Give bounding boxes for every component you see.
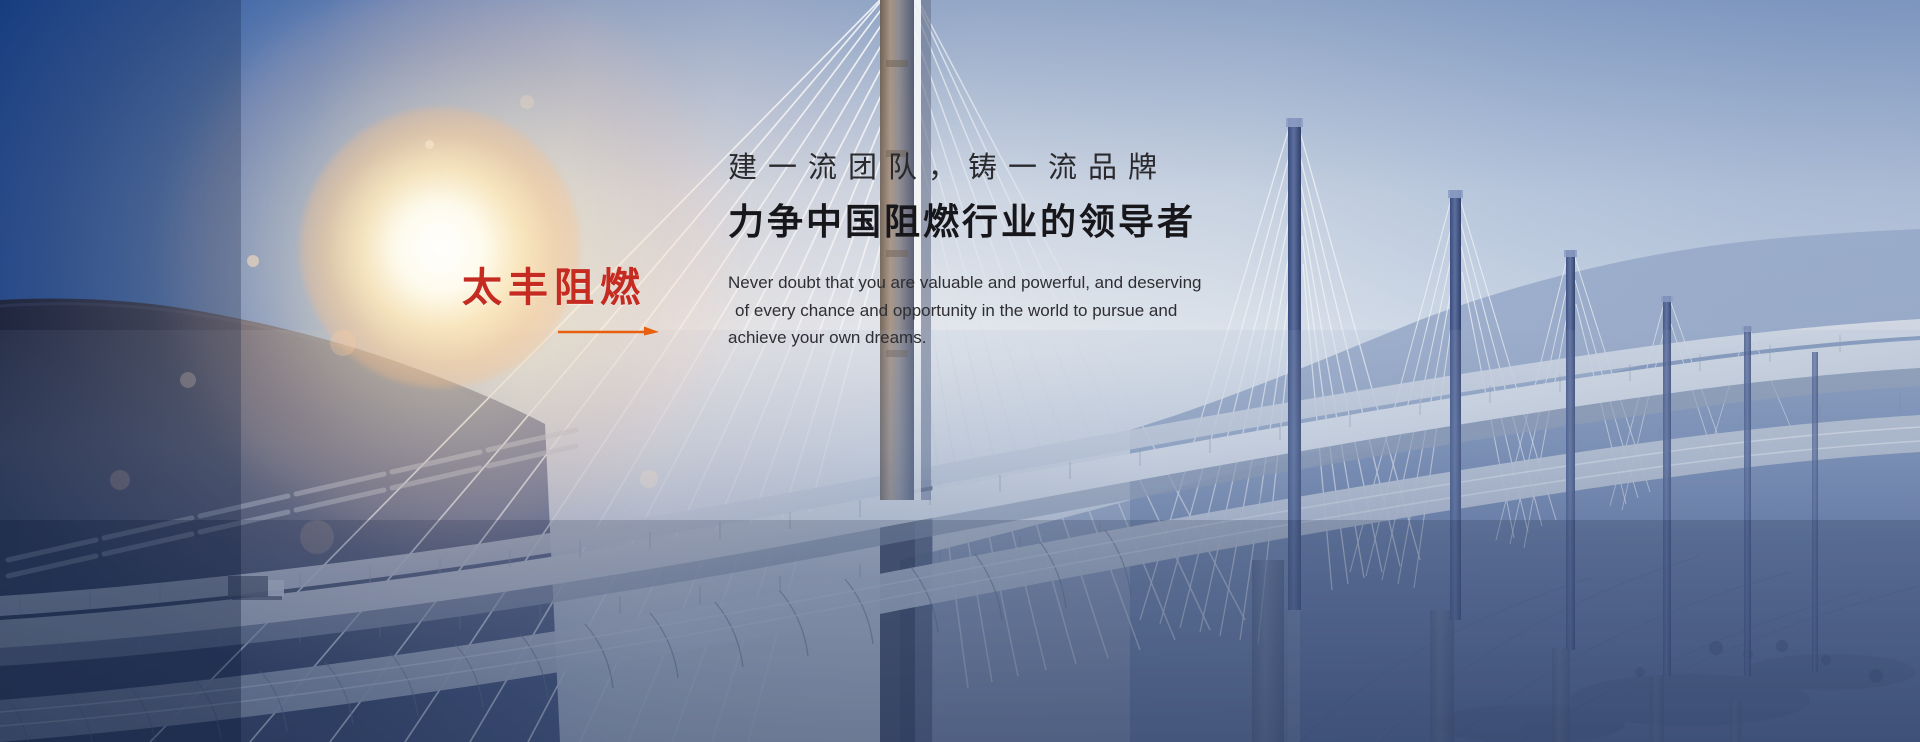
subtext-block: Never doubt that you are valuable and po… <box>728 269 1728 352</box>
arrow-right-icon <box>558 324 668 338</box>
headline-line-1: 建一流团队，铸一流品牌 <box>728 148 1728 187</box>
hero-banner: 太丰阻燃 建一流团队，铸一流品牌 力争中国阻燃行业的领导者 Never doub… <box>0 0 1920 742</box>
subtext-line-1: Never doubt that you are valuable and po… <box>728 269 1728 297</box>
brand-logo-text: 太丰阻燃 <box>462 268 682 308</box>
headline-block: 建一流团队，铸一流品牌 力争中国阻燃行业的领导者 Never doubt tha… <box>728 148 1728 352</box>
brand-logo[interactable]: 太丰阻燃 <box>462 268 682 308</box>
headline-line-2: 力争中国阻燃行业的领导者 <box>728 197 1728 249</box>
subtext-line-2: of every chance and opportunity in the w… <box>728 297 1728 325</box>
subtext-line-3: achieve your own dreams. <box>728 324 1728 352</box>
banner-content: 太丰阻燃 建一流团队，铸一流品牌 力争中国阻燃行业的领导者 Never doub… <box>0 0 1920 742</box>
